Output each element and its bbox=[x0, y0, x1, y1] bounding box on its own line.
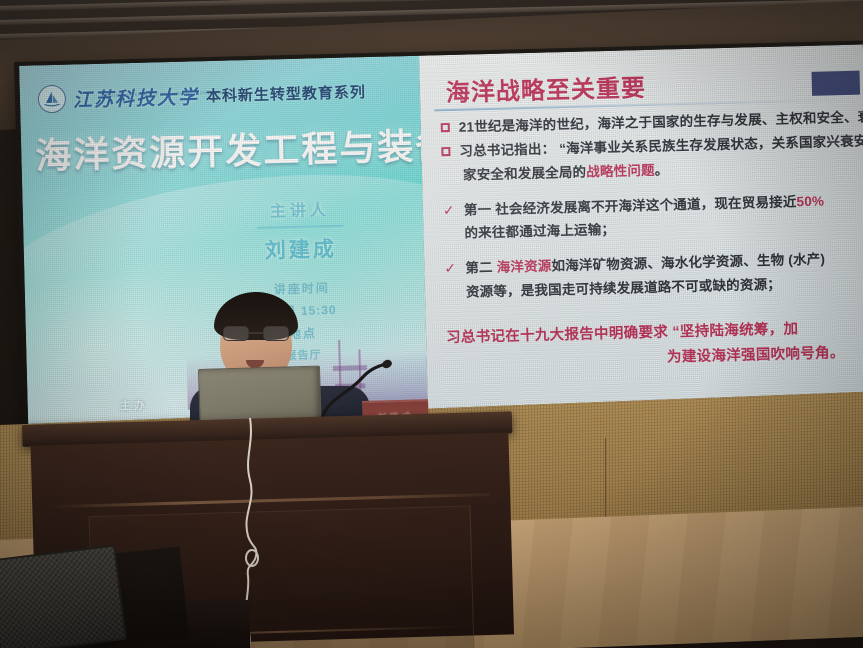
floor-speaker-monitor bbox=[0, 544, 127, 648]
slide-body: 21世纪是海洋的世纪，海洋之于国家的生存与发展、主权和安全、衰落与兴 习总书记指… bbox=[441, 106, 863, 417]
poster-title: 海洋资源开发工程与装备 bbox=[35, 118, 414, 180]
highlight-strategic-issue: 战略性问题 bbox=[586, 163, 655, 180]
slide-content: 海洋战略至关重要 21世纪是海洋的世纪，海洋之于国家的生存与发展、主权和安全、衰… bbox=[419, 45, 863, 418]
bullet-wrap-prefix: 家安全和发展全局的 bbox=[463, 164, 587, 182]
square-bullet-icon bbox=[441, 123, 450, 132]
check-mark-icon: ✓ bbox=[444, 261, 456, 275]
projection-screen: 江苏科技大学 本科新生转型教育系列 JIANGSU UNIVERSITY OF … bbox=[14, 41, 863, 434]
quote-block: 习总书记在十九大报告中明确要求 “坚持陆海统筹，加 为建设海洋强国吹响号角。 bbox=[446, 315, 863, 375]
check-text-prefix: 第一 社会经济发展离不开海洋这个通道，现在贸易接近 bbox=[464, 194, 797, 217]
highlight-marine-resources: 海洋资源 bbox=[497, 259, 552, 275]
highlight-fifty-percent: 50% bbox=[796, 193, 824, 209]
slide-title: 海洋战略至关重要 bbox=[445, 68, 646, 108]
square-bullet-icon bbox=[441, 147, 450, 156]
check-text-suffix: 如海洋矿物资源、海水化学资源、生物 (水产) bbox=[551, 252, 825, 274]
speaker-divider bbox=[257, 225, 343, 229]
lecture-hall-photo: 江苏科技大学 本科新生转型教育系列 JIANGSU UNIVERSITY OF … bbox=[0, 0, 863, 648]
slide-accent-block bbox=[812, 71, 861, 96]
check-mark-icon: ✓ bbox=[443, 202, 455, 216]
series-label: 本科新生转型教育系列 bbox=[206, 81, 366, 106]
eyeglasses-icon bbox=[223, 326, 289, 341]
speaker-label: 主讲人 bbox=[235, 195, 366, 222]
bullet-wrap-suffix: 。 bbox=[655, 162, 669, 177]
speaker-name: 刘建成 bbox=[235, 232, 366, 265]
sailboat-emblem-icon bbox=[38, 85, 67, 114]
host-label: 主办 bbox=[120, 397, 148, 414]
check-text-prefix: 第二 bbox=[465, 260, 497, 276]
